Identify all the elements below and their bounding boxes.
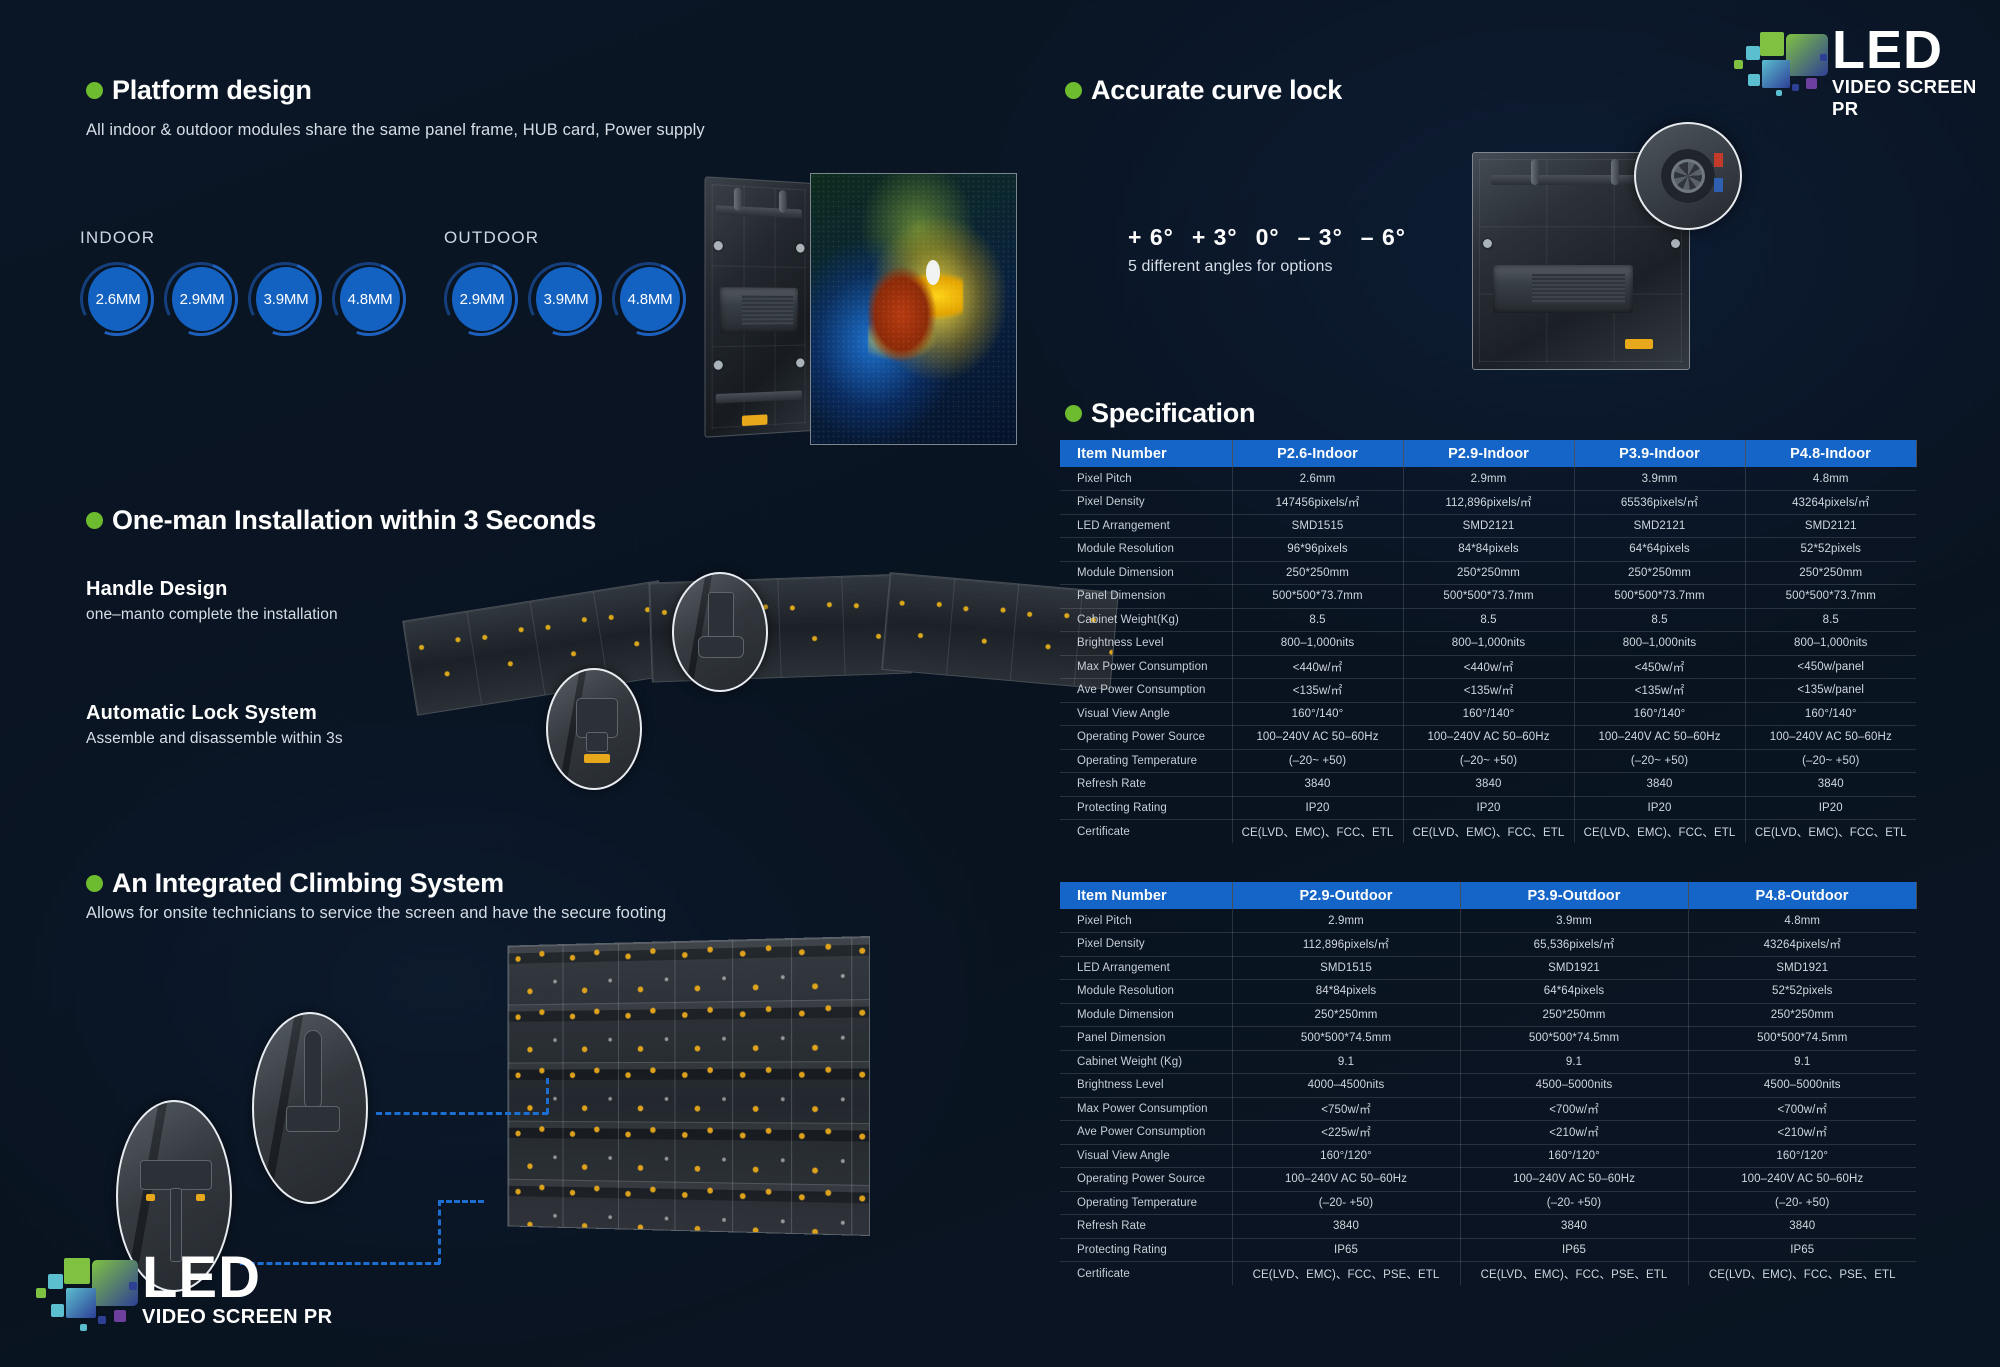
outdoor-pitch-list: 2.9MM 3.9MM 4.8MM [444, 262, 696, 336]
table-cell: 9.1 [1688, 1050, 1916, 1074]
bullet-dot-icon [86, 512, 103, 529]
table-header-row-indoor: Item NumberP2.6-IndoorP2.9-IndoorP3.9-In… [1060, 440, 1916, 467]
callout-connector-top-v [546, 1078, 549, 1114]
pitch-badge-outdoor-1: 3.9MM [528, 262, 602, 336]
table-cell: 2.9mm [1232, 909, 1460, 933]
table-row-label: Operating Power Source [1060, 1168, 1232, 1192]
led-wall-array [508, 936, 870, 1236]
table-cell: 500*500*74.5mm [1232, 1027, 1460, 1051]
table-cell: 800–1,000nits [1574, 632, 1745, 656]
installation-title: One-man Installation within 3 Seconds [112, 505, 596, 536]
table-cell: 4500–5000nits [1460, 1074, 1688, 1098]
table-cell: 500*500*73.7mm [1745, 585, 1916, 609]
table-cell: IP65 [1688, 1238, 1916, 1262]
auto-lock-title: Automatic Lock System [86, 702, 317, 725]
table-row-label: Pixel Pitch [1060, 467, 1232, 491]
cabinet-handle-icon [1531, 159, 1539, 185]
climb-footplate [286, 1106, 340, 1132]
table-cell: 500*500*74.5mm [1688, 1027, 1916, 1051]
specification-table-indoor: Item NumberP2.6-IndoorP2.9-IndoorP3.9-In… [1060, 440, 1917, 843]
curve-lock-zoom-circle [1634, 122, 1742, 230]
table-body-indoor: Pixel Pitch2.6mm2.9mm3.9mm4.8mmPixel Den… [1060, 467, 1916, 843]
table-row: Module Resolution84*84pixels64*64pixels5… [1060, 980, 1916, 1004]
table-cell: (–20~ +50) [1232, 749, 1403, 773]
table-cell: <450w/㎡ [1574, 655, 1745, 679]
table-cell: CE(LVD、EMC)、FCC、ETL [1574, 820, 1745, 844]
table-cell: (–20- +50) [1460, 1191, 1688, 1215]
table-cell: 9.1 [1460, 1050, 1688, 1074]
pitch-badge-label: 3.9MM [256, 267, 316, 331]
table-cell: (–20- +50) [1232, 1191, 1460, 1215]
logo-mosaic-icon [34, 1254, 138, 1336]
table-cell: 160°/140° [1745, 702, 1916, 726]
logo-bottom-left: LED VIDEO SCREEN PR [34, 1254, 332, 1336]
table-row-label: Pixel Pitch [1060, 909, 1232, 933]
table-cell: 800–1,000nits [1745, 632, 1916, 656]
table-cell: 100–240V AC 50–60Hz [1403, 726, 1574, 750]
table-cell: <440w/㎡ [1403, 655, 1574, 679]
climb-rail [304, 1030, 322, 1110]
installation-heading: One-man Installation within 3 Seconds [86, 505, 596, 536]
table-row: Ave Power Consumption<135w/㎡<135w/㎡<135w… [1060, 679, 1916, 703]
table-cell: SMD1515 [1232, 956, 1460, 980]
callout-connector-bottom-v [438, 1200, 441, 1264]
table-row-label: Module Resolution [1060, 538, 1232, 562]
table-cell: <135w/㎡ [1232, 679, 1403, 703]
table-cell: 52*52pixels [1688, 980, 1916, 1004]
table-row: Operating Power Source100–240V AC 50–60H… [1060, 726, 1916, 750]
table-row: Brightness Level4000–4500nits4500–5000ni… [1060, 1074, 1916, 1098]
cabinet-screw-icon [796, 243, 804, 252]
table-cell: IP65 [1460, 1238, 1688, 1262]
table-cell: CE(LVD、EMC)、FCC、PSE、ETL [1232, 1262, 1460, 1286]
table-cell: <450w/panel [1745, 655, 1916, 679]
callout-connector-top [376, 1112, 548, 1115]
table-cell: 250*250mm [1460, 1003, 1688, 1027]
table-cell: 3840 [1574, 773, 1745, 797]
curve-angle-4: – 6° [1361, 224, 1406, 251]
bullet-dot-icon [86, 82, 103, 99]
table-cell: SMD2121 [1574, 514, 1745, 538]
table-header-model-4: P4.8-Indoor [1745, 440, 1916, 467]
cabinet-handle-icon [779, 190, 787, 213]
table-cell: 8.5 [1574, 608, 1745, 632]
table-row-label: Max Power Consumption [1060, 655, 1232, 679]
table-cell: 250*250mm [1574, 561, 1745, 585]
handle-callout-circle [672, 572, 768, 692]
parrot-artwork [868, 255, 962, 363]
platform-design-title: Platform design [112, 75, 312, 106]
table-cell: IP65 [1232, 1238, 1460, 1262]
climbing-title: An Integrated Climbing System [112, 868, 504, 899]
table-cell: 43264pixels/㎡ [1745, 491, 1916, 515]
table-cell: 800–1,000nits [1232, 632, 1403, 656]
table-row-label: Brightness Level [1060, 1074, 1232, 1098]
curve-marker-red [1714, 153, 1723, 167]
table-row-label: Certificate [1060, 1262, 1232, 1286]
table-cell: SMD2121 [1745, 514, 1916, 538]
table-row: Protecting RatingIP65IP65IP65 [1060, 1238, 1916, 1262]
table-row: Cabinet Weight (Kg)9.19.19.1 [1060, 1050, 1916, 1074]
anchor-indicator-icon [146, 1194, 155, 1201]
table-row-label: Panel Dimension [1060, 585, 1232, 609]
table-row: CertificateCE(LVD、EMC)、FCC、PSE、ETLCE(LVD… [1060, 1262, 1916, 1286]
bullet-dot-icon [86, 875, 103, 892]
auto-lock-subtitle: Assemble and disassemble within 3s [86, 730, 343, 748]
table-row: Panel Dimension500*500*73.7mm500*500*73.… [1060, 585, 1916, 609]
table-row-label: Operating Power Source [1060, 726, 1232, 750]
table-header-row-outdoor: Item NumberP2.9-OutdoorP3.9-OutdoorP4.8-… [1060, 882, 1916, 909]
table-cell: SMD1921 [1688, 956, 1916, 980]
table-row-label: Protecting Rating [1060, 1238, 1232, 1262]
table-row: Operating Temperature(–20~ +50)(–20~ +50… [1060, 749, 1916, 773]
curve-angles-subtitle: 5 different angles for options [1128, 258, 1333, 276]
table-row: Panel Dimension500*500*74.5mm500*500*74.… [1060, 1027, 1916, 1051]
table-row-label: Visual View Angle [1060, 702, 1232, 726]
curve-lock-title: Accurate curve lock [1091, 75, 1342, 106]
table-row-label: Operating Temperature [1060, 1191, 1232, 1215]
table-cell: 800–1,000nits [1403, 632, 1574, 656]
table-row-label: Cabinet Weight(Kg) [1060, 608, 1232, 632]
lock-latch [586, 732, 608, 752]
table-cell: 4000–4500nits [1232, 1074, 1460, 1098]
table-cell: 160°/120° [1232, 1144, 1460, 1168]
table-row-label: Refresh Rate [1060, 1215, 1232, 1239]
table-row: Visual View Angle160°/120°160°/120°160°/… [1060, 1144, 1916, 1168]
pitch-badge-indoor-2: 3.9MM [248, 262, 322, 336]
table-row: Module Resolution96*96pixels84*84pixels6… [1060, 538, 1916, 562]
table-cell: <135w/㎡ [1574, 679, 1745, 703]
pitch-badge-label: 2.9MM [452, 267, 512, 331]
table-row: Pixel Pitch2.6mm2.9mm3.9mm4.8mm [1060, 467, 1916, 491]
table-cell: <700w/㎡ [1688, 1097, 1916, 1121]
table-cell: 500*500*73.7mm [1232, 585, 1403, 609]
pitch-badge-label: 4.8MM [340, 267, 400, 331]
led-cabinet-back [704, 176, 812, 437]
table-cell: 250*250mm [1232, 561, 1403, 585]
cabinet-lock-icon [742, 414, 768, 426]
table-cell: 160°/140° [1574, 702, 1745, 726]
table-cell: (–20~ +50) [1574, 749, 1745, 773]
cabinet-power-supply [1493, 265, 1633, 313]
table-cell: 84*84pixels [1403, 538, 1574, 562]
table-cell: CE(LVD、EMC)、FCC、ETL [1232, 820, 1403, 844]
table-cell: 100–240V AC 50–60Hz [1574, 726, 1745, 750]
table-cell: 500*500*73.7mm [1403, 585, 1574, 609]
table-row-label: LED Arrangement [1060, 956, 1232, 980]
pitch-badge-label: 4.8MM [620, 267, 680, 331]
callout-connector-bottom-h2 [438, 1200, 484, 1203]
table-body-outdoor: Pixel Pitch2.9mm3.9mm4.8mmPixel Density1… [1060, 909, 1916, 1285]
table-cell: 3.9mm [1460, 909, 1688, 933]
cabinet-handle-icon [734, 187, 742, 210]
cabinet-handle-icon [1611, 159, 1619, 185]
table-cell: 250*250mm [1688, 1003, 1916, 1027]
handle-design-subtitle: one–manto complete the installation [86, 606, 338, 624]
table-row: Refresh Rate3840384038403840 [1060, 773, 1916, 797]
table-cell: 96*96pixels [1232, 538, 1403, 562]
table-row-label: Pixel Density [1060, 933, 1232, 957]
curve-angle-2: 0° [1256, 224, 1280, 251]
table-cell: CE(LVD、EMC)、FCC、PSE、ETL [1688, 1262, 1916, 1286]
specification-table-outdoor: Item NumberP2.9-OutdoorP3.9-OutdoorP4.8-… [1060, 882, 1917, 1285]
handle-base [698, 636, 744, 658]
platform-design-heading: Platform design [86, 75, 312, 106]
table-row: Cabinet Weight(Kg)8.58.58.58.5 [1060, 608, 1916, 632]
table-cell: 8.5 [1745, 608, 1916, 632]
logo-tagline-text: VIDEO SCREEN PR [142, 1306, 332, 1329]
table-cell: <135w/㎡ [1403, 679, 1574, 703]
table-cell: 112,896pixels/㎡ [1232, 933, 1460, 957]
specification-title: Specification [1091, 398, 1255, 429]
cabinet-screw-icon [1483, 239, 1492, 248]
table-cell: <750w/㎡ [1232, 1097, 1460, 1121]
outdoor-group-label: OUTDOOR [444, 228, 539, 248]
table-cell: 100–240V AC 50–60Hz [1745, 726, 1916, 750]
logo-tagline-text: VIDEO SCREEN PR [1832, 76, 2000, 120]
table-header-model-1: P2.6-Indoor [1232, 440, 1403, 467]
table-row-label: Refresh Rate [1060, 773, 1232, 797]
table-cell: 160°/120° [1460, 1144, 1688, 1168]
table-row: Pixel Pitch2.9mm3.9mm4.8mm [1060, 909, 1916, 933]
table-cell: 8.5 [1232, 608, 1403, 632]
table-cell: (–20- +50) [1688, 1191, 1916, 1215]
table-row: Refresh Rate384038403840 [1060, 1215, 1916, 1239]
table-row-label: Module Dimension [1060, 561, 1232, 585]
table-row: LED ArrangementSMD1515SMD1921SMD1921 [1060, 956, 1916, 980]
table-cell: 160°/140° [1403, 702, 1574, 726]
table-cell: 84*84pixels [1232, 980, 1460, 1004]
anchor-body [140, 1160, 212, 1190]
table-row-label: Certificate [1060, 820, 1232, 844]
table-cell: 64*64pixels [1460, 980, 1688, 1004]
table-cell: 3840 [1232, 1215, 1460, 1239]
table-row: Visual View Angle160°/140°160°/140°160°/… [1060, 702, 1916, 726]
table-cell: SMD2121 [1403, 514, 1574, 538]
table-cell: 112,896pixels/㎡ [1403, 491, 1574, 515]
table-cell: 64*64pixels [1574, 538, 1745, 562]
table-row-label: Ave Power Consumption [1060, 1121, 1232, 1145]
lock-indicator-icon [584, 754, 610, 763]
pitch-badge-indoor-3: 4.8MM [332, 262, 406, 336]
anchor-indicator-icon [196, 1194, 205, 1201]
table-cell: 250*250mm [1232, 1003, 1460, 1027]
table-cell: <225w/㎡ [1232, 1121, 1460, 1145]
table-cell: CE(LVD、EMC)、FCC、ETL [1745, 820, 1916, 844]
table-cell: (–20~ +50) [1403, 749, 1574, 773]
table-row-label: Cabinet Weight (Kg) [1060, 1050, 1232, 1074]
table-row-label: Module Dimension [1060, 1003, 1232, 1027]
table-cell: IP20 [1745, 796, 1916, 820]
curve-angle-0: + 6° [1128, 224, 1174, 251]
table-cell: (–20~ +50) [1745, 749, 1916, 773]
table-cell: 3.9mm [1574, 467, 1745, 491]
table-row-label: Ave Power Consumption [1060, 679, 1232, 703]
table-header-model-2: P2.9-Indoor [1403, 440, 1574, 467]
table-cell: <440w/㎡ [1232, 655, 1403, 679]
table-cell: <700w/㎡ [1460, 1097, 1688, 1121]
table-row: Max Power Consumption<750w/㎡<700w/㎡<700w… [1060, 1097, 1916, 1121]
table-cell: 8.5 [1403, 608, 1574, 632]
bullet-dot-icon [1065, 405, 1082, 422]
cabinet-lock-icon [1625, 339, 1653, 349]
curve-lock-heading: Accurate curve lock [1065, 75, 1342, 106]
curve-angle-3: – 3° [1298, 224, 1343, 251]
indoor-pitch-list: 2.6MM 2.9MM 3.9MM 4.8MM [80, 262, 416, 336]
table-cell: 100–240V AC 50–60Hz [1232, 1168, 1460, 1192]
table-row-label: LED Arrangement [1060, 514, 1232, 538]
lock-callout-circle [546, 668, 642, 790]
logo-mosaic-icon [1732, 28, 1828, 102]
table-row-label: Operating Temperature [1060, 749, 1232, 773]
table-header-model-2: P3.9-Outdoor [1460, 882, 1688, 909]
table-cell: 3840 [1460, 1215, 1688, 1239]
platform-design-subtitle: All indoor & outdoor modules share the s… [86, 121, 705, 140]
bullet-dot-icon [1065, 82, 1082, 99]
table-cell: 4.8mm [1745, 467, 1916, 491]
table-row: LED ArrangementSMD1515SMD2121SMD2121SMD2… [1060, 514, 1916, 538]
specification-heading: Specification [1065, 398, 1255, 429]
logo-led-text: LED [142, 1254, 332, 1303]
table-cell: SMD1921 [1460, 956, 1688, 980]
table-cell: 4.8mm [1688, 909, 1916, 933]
curve-lock-gear-icon [1661, 149, 1715, 203]
table-cell: 2.6mm [1232, 467, 1403, 491]
table-cell: 52*52pixels [1745, 538, 1916, 562]
pitch-badge-outdoor-2: 4.8MM [612, 262, 686, 336]
table-row: Pixel Density112,896pixels/㎡65,536pixels… [1060, 933, 1916, 957]
climbing-heading: An Integrated Climbing System [86, 868, 504, 899]
table-cell: 100–240V AC 50–60Hz [1232, 726, 1403, 750]
table-cell: <135w/panel [1745, 679, 1916, 703]
table-cell: IP20 [1403, 796, 1574, 820]
table-header-item-number: Item Number [1060, 440, 1232, 467]
table-cell: 3840 [1232, 773, 1403, 797]
pitch-badge-label: 2.9MM [172, 267, 232, 331]
table-row-label: Brightness Level [1060, 632, 1232, 656]
table-row: Module Dimension250*250mm250*250mm250*25… [1060, 1003, 1916, 1027]
table-cell: 65,536pixels/㎡ [1460, 933, 1688, 957]
table-cell: 3840 [1403, 773, 1574, 797]
table-cell: 9.1 [1232, 1050, 1460, 1074]
table-cell: IP20 [1232, 796, 1403, 820]
table-row: Protecting RatingIP20IP20IP20IP20 [1060, 796, 1916, 820]
table-header-model-3: P4.8-Outdoor [1688, 882, 1916, 909]
table-row: CertificateCE(LVD、EMC)、FCC、ETLCE(LVD、EMC… [1060, 820, 1916, 844]
wall-lock-dots [508, 937, 869, 1235]
table-cell: 500*500*73.7mm [1574, 585, 1745, 609]
pitch-badge-label: 3.9MM [536, 267, 596, 331]
table-row-label: Max Power Consumption [1060, 1097, 1232, 1121]
logo-top-right: LED VIDEO SCREEN PR [1732, 28, 2000, 120]
table-header-item-number: Item Number [1060, 882, 1232, 909]
table-cell: 160°/120° [1688, 1144, 1916, 1168]
pitch-badge-label: 2.6MM [88, 267, 148, 331]
curve-angles-list: + 6° + 3° 0° – 3° – 6° [1128, 224, 1406, 251]
table-header-model-3: P3.9-Indoor [1574, 440, 1745, 467]
table-cell: 65536pixels/㎡ [1574, 491, 1745, 515]
handle-knob [708, 592, 734, 640]
cabinet-screw-icon [714, 241, 723, 251]
pitch-badge-indoor-0: 2.6MM [80, 262, 154, 336]
pitch-badge-indoor-1: 2.9MM [164, 262, 238, 336]
table-row-label: Panel Dimension [1060, 1027, 1232, 1051]
table-cell: 2.9mm [1403, 467, 1574, 491]
table-row-label: Protecting Rating [1060, 796, 1232, 820]
table-cell: 147456pixels/㎡ [1232, 491, 1403, 515]
table-row: Operating Temperature(–20- +50)(–20- +50… [1060, 1191, 1916, 1215]
table-row: Module Dimension250*250mm250*250mm250*25… [1060, 561, 1916, 585]
table-cell: 160°/140° [1232, 702, 1403, 726]
table-cell: 3840 [1688, 1215, 1916, 1239]
table-row: Ave Power Consumption<225w/㎡<210w/㎡<210w… [1060, 1121, 1916, 1145]
table-cell: 43264pixels/㎡ [1688, 933, 1916, 957]
table-cell: 250*250mm [1745, 561, 1916, 585]
climb-step-callout [252, 1012, 368, 1204]
logo-led-text: LED [1832, 28, 2000, 73]
table-row: Pixel Density147456pixels/㎡112,896pixels… [1060, 491, 1916, 515]
brochure-page: LED VIDEO SCREEN PR Platform design All … [0, 0, 2000, 1367]
table-cell: 250*250mm [1403, 561, 1574, 585]
table-cell: 100–240V AC 50–60Hz [1460, 1168, 1688, 1192]
curve-marker-blue [1714, 178, 1723, 192]
parrot-head [926, 260, 940, 284]
table-header-model-1: P2.9-Outdoor [1232, 882, 1460, 909]
indoor-group-label: INDOOR [80, 228, 155, 248]
cabinet-screw-icon [1671, 239, 1680, 248]
pitch-badge-outdoor-0: 2.9MM [444, 262, 518, 336]
table-cell: 100–240V AC 50–60Hz [1688, 1168, 1916, 1192]
table-cell: <210w/㎡ [1460, 1121, 1688, 1145]
climbing-subtitle: Allows for onsite technicians to service… [86, 904, 666, 923]
table-cell: 3840 [1745, 773, 1916, 797]
led-screen-display [810, 173, 1017, 445]
cabinet-power-supply [720, 287, 798, 333]
table-row-label: Pixel Density [1060, 491, 1232, 515]
table-cell: 4500–5000nits [1688, 1074, 1916, 1098]
table-cell: CE(LVD、EMC)、FCC、ETL [1403, 820, 1574, 844]
table-row-label: Module Resolution [1060, 980, 1232, 1004]
table-row: Max Power Consumption<440w/㎡<440w/㎡<450w… [1060, 655, 1916, 679]
curve-angle-1: + 3° [1192, 224, 1238, 251]
table-cell: IP20 [1574, 796, 1745, 820]
table-row: Operating Power Source100–240V AC 50–60H… [1060, 1168, 1916, 1192]
table-cell: SMD1515 [1232, 514, 1403, 538]
table-cell: CE(LVD、EMC)、FCC、PSE、ETL [1460, 1262, 1688, 1286]
table-cell: <210w/㎡ [1688, 1121, 1916, 1145]
table-cell: 500*500*74.5mm [1460, 1027, 1688, 1051]
handle-design-title: Handle Design [86, 578, 228, 601]
table-row-label: Visual View Angle [1060, 1144, 1232, 1168]
table-row: Brightness Level800–1,000nits800–1,000ni… [1060, 632, 1916, 656]
